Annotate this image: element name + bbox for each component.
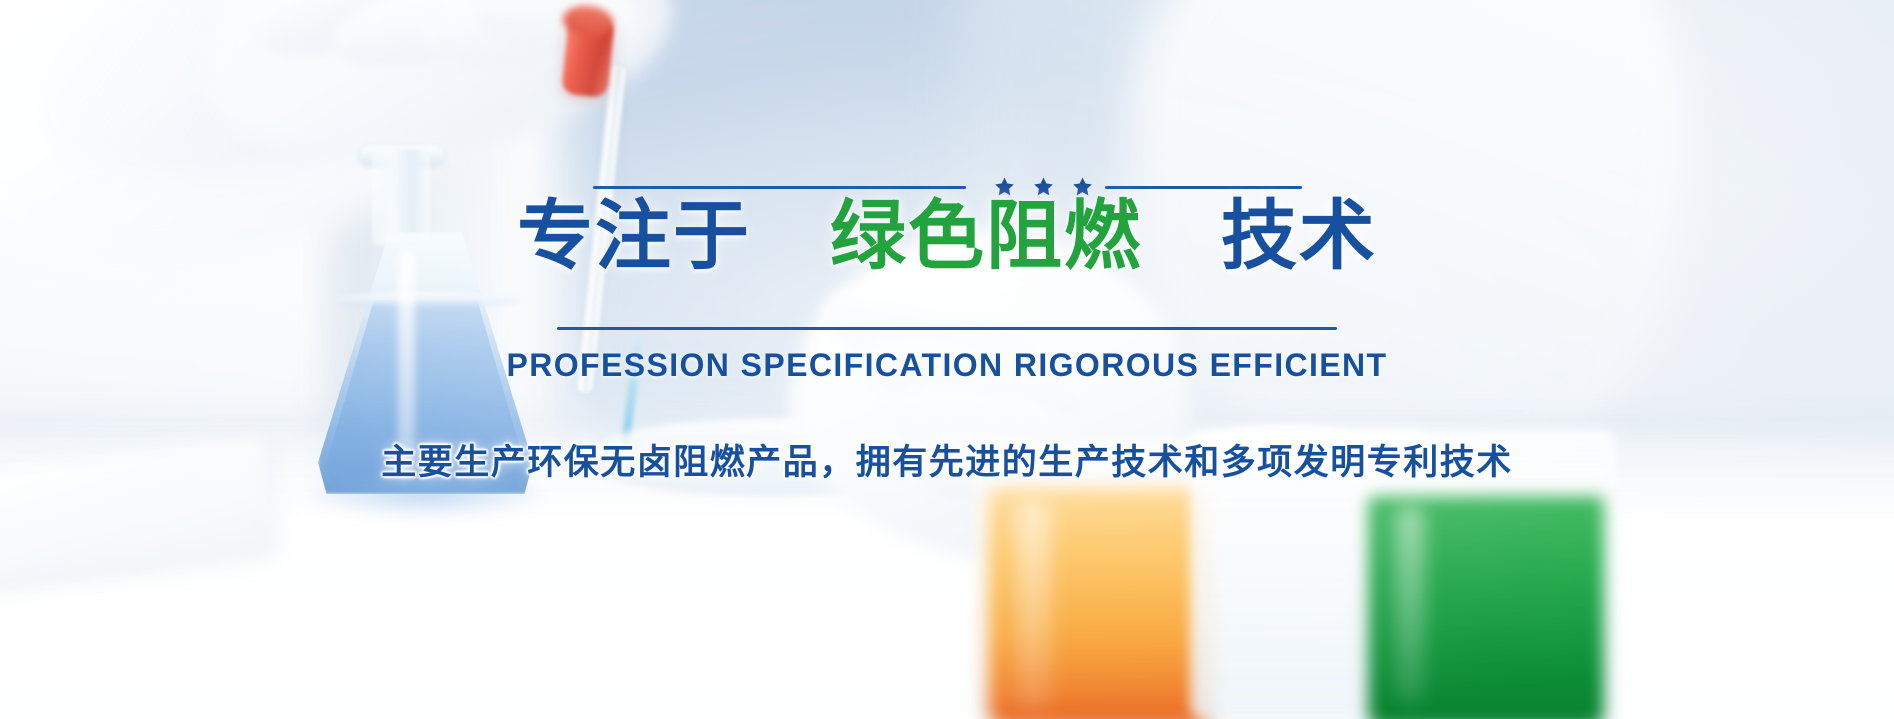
divider-line-left [593,186,966,189]
banner-subtitle-english: PROFESSION SPECIFICATION RIGOROUS EFFICI… [507,347,1388,384]
banner-text-overlay: 专注于 绿色阻燃 技术 PROFESSION SPECIFICATION RIG… [0,0,1894,719]
headline-part-2: 绿色阻燃 [830,191,1142,280]
banner-headline: 专注于 绿色阻燃 技术 [517,198,1377,274]
headline-part-3: 技术 [1221,191,1377,280]
headline-part-1: 专注于 [517,191,751,280]
divider-line-right [1105,186,1302,189]
hero-banner: 专注于 绿色阻燃 技术 PROFESSION SPECIFICATION RIG… [0,0,1894,719]
headline-underline [557,327,1337,330]
banner-tagline-chinese: 主要生产环保无卤阻燃产品，拥有先进的生产技术和多项发明专利技术 [381,434,1513,485]
